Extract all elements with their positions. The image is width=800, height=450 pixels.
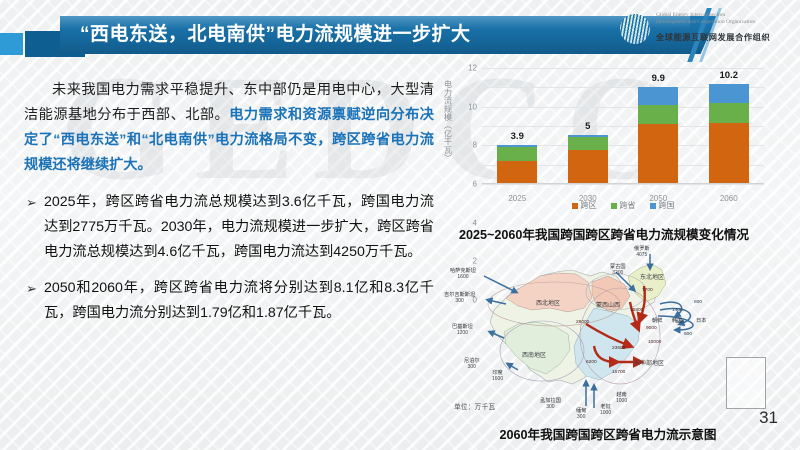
map-country-japan: 日本 (696, 318, 706, 324)
chart-legend-label: 跨省 (620, 200, 636, 211)
map-region-northeast: 东北地区 (640, 272, 664, 281)
power-flow-bar-chart: 电力流规模（亿千瓦） 0246810123.92025520309.920501… (434, 62, 774, 222)
chart-legend-item[interactable]: 跨省 (611, 200, 636, 211)
intro-paragraph: 未来我国电力需求平稳提升、东中部仍是用电中心，大型清洁能源基地分布于西部、北部。… (24, 78, 434, 178)
map-flow-15700: 15700 (612, 370, 625, 375)
chart-bar-segment[interactable] (709, 103, 749, 123)
chart-bar-segment[interactable] (568, 137, 608, 150)
chart-bar-value-label: 3.9 (497, 131, 537, 142)
map-country-nepal: 尼泊尔300 (464, 358, 480, 371)
organization-logo: Global Energy Interconnection Developmen… (620, 8, 795, 52)
map-country-pakistan: 巴基斯坦1200 (452, 324, 473, 337)
logo-english-name: Global Energy Interconnection Developmen… (656, 12, 796, 27)
chart-legend-label: 跨国 (659, 200, 675, 211)
chart-y-axis-label: 电力流规模（亿千瓦） (438, 80, 452, 176)
chart-y-tick: 12 (468, 64, 477, 73)
map-flow-1400: 1400 (672, 308, 683, 313)
map-country-laos: 老挝1000 (600, 404, 611, 417)
bullet-marker-icon: ➢ (24, 190, 44, 265)
list-item: ➢ 2050和2060年，跨区跨省电力流将分别达到8.1亿和8.3亿千瓦，跨国电… (24, 276, 434, 326)
chart-legend-item[interactable]: 跨国 (650, 200, 675, 211)
map-flow-6200: 6200 (586, 360, 597, 365)
map-country-kyrgyzstan: 吉尔吉斯斯坦300 (444, 292, 475, 305)
map-country-myanmar: 缅甸300 (576, 408, 586, 421)
slide-header: “西电东送，北电南供”电力流规模进一步扩大 Global Energy Inte… (0, 0, 800, 62)
map-country-kazakhstan: 哈萨克斯坦1600 (450, 268, 476, 281)
chart-bar[interactable]: 9.9 (638, 87, 678, 183)
logo-english-line-2: Development and Cooperation Organization (656, 19, 796, 26)
chart-legend-label: 跨区 (581, 200, 597, 211)
map-region-east-central: 东中部地区 (634, 358, 664, 367)
map-country-vietnam: 越南1000 (616, 392, 627, 405)
map-flow-800: 800 (694, 300, 702, 305)
chart-bar-value-label: 10.2 (709, 70, 749, 81)
chart-bar-segment[interactable] (709, 123, 749, 183)
chart-bar-segment[interactable] (568, 150, 608, 183)
map-unit-note: 单位：万千瓦 (454, 401, 495, 411)
chart-bar-segment[interactable] (638, 87, 678, 104)
map-flow-600: 600 (684, 332, 692, 337)
chart-legend-swatch (611, 203, 617, 209)
map-flow-9000: 9000 (646, 326, 657, 331)
chart-gridline: 0 (482, 184, 764, 185)
body-text-column: 未来我国电力需求平稳提升、东中部仍是用电中心，大型清洁能源基地分布于西部、北部。… (24, 78, 434, 337)
chart-y-tick: 10 (468, 102, 477, 111)
bullet-text-2: 2050和2060年，跨区跨省电力流将分别达到8.1亿和8.3亿千瓦，跨国电力流… (44, 276, 434, 326)
map-inset-south-china-sea (726, 357, 766, 409)
chart-bar-value-label: 5 (568, 121, 608, 132)
map-region-mengxi-shanxi: 蒙西山西 (596, 300, 620, 309)
map-country-northkorea: 朝鲜 (652, 318, 662, 324)
chart-bar[interactable]: 3.9 (497, 145, 537, 183)
chart-legend-swatch (650, 203, 656, 209)
chart-bar-segment[interactable] (709, 84, 749, 102)
map-flow-7700: 7700 (642, 288, 653, 293)
chart-legend-item[interactable]: 跨区 (572, 200, 597, 211)
map-country-bangladesh: 孟加拉国300 (540, 398, 561, 411)
china-map-graphic (444, 246, 774, 421)
map-flow-500: 500 (676, 320, 684, 325)
map-flow-28000: 28000 (576, 320, 589, 325)
chart-y-tick: 8 (473, 141, 477, 150)
map-flow-15800: 15800 (630, 308, 643, 313)
page-title: “西电东送，北电南供”电力流规模进一步扩大 (80, 19, 680, 51)
map-caption: 2060年我国跨国跨区跨省电力流示意图 (438, 424, 778, 443)
chart-bar[interactable]: 10.2 (709, 84, 749, 183)
chart-bar-value-label: 9.9 (638, 73, 678, 84)
chart-bar-segment[interactable] (638, 105, 678, 124)
map-flow-10000: 10000 (648, 340, 661, 345)
chart-bar-segment[interactable] (638, 124, 678, 183)
logo-english-line-1: Global Energy Interconnection (656, 12, 796, 19)
chart-caption: 2025~2060年我国跨国跨区跨省电力流规模变化情况 (434, 224, 774, 243)
map-flow-23600: 23600 (612, 346, 625, 351)
map-region-northwest: 西北地区 (536, 298, 560, 307)
bullet-text-1: 2025年，跨区跨省电力流总规模达到3.6亿千瓦，跨国电力流达到2775万千瓦。… (44, 190, 434, 265)
page-number: 31 (759, 408, 778, 428)
power-flow-map: 哈萨克斯坦1600 吉尔吉斯斯坦300 巴基斯坦1200 尼泊尔300 印度16… (444, 246, 774, 421)
map-country-mongolia: 蒙古国3200 (610, 264, 626, 277)
chart-bar-segment[interactable] (497, 161, 537, 183)
chart-bar[interactable]: 5 (568, 135, 608, 183)
bullet-list: ➢ 2025年，跨区跨省电力流总规模达到3.6亿千瓦，跨国电力流达到2775万千… (24, 190, 434, 326)
list-item: ➢ 2025年，跨区跨省电力流总规模达到3.6亿千瓦，跨国电力流达到2775万千… (24, 190, 434, 265)
map-country-russia: 俄罗斯4075 (634, 246, 650, 259)
map-country-india: 印度1600 (492, 370, 503, 383)
map-region-southwest: 西南地区 (522, 350, 546, 359)
chart-bar-segment[interactable] (497, 147, 537, 161)
logo-chinese-name: 全球能源互联网发展合作组织 (656, 31, 796, 43)
bullet-marker-icon: ➢ (24, 276, 44, 326)
chart-legend: 跨区跨省跨国 (482, 200, 764, 211)
globe-icon (620, 14, 650, 44)
chart-y-tick: 6 (473, 180, 477, 189)
chart-plot-area: 0246810123.92025520309.9205010.22060 (482, 68, 764, 184)
header-decor-square-light (0, 33, 23, 55)
chart-gridline: 12 (482, 68, 764, 69)
chart-legend-swatch (572, 203, 578, 209)
